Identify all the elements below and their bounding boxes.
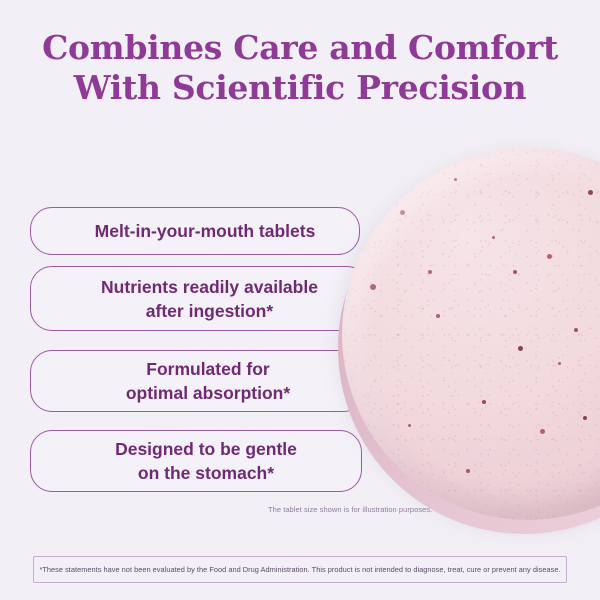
tablet-speck bbox=[454, 178, 457, 181]
tablet-speck bbox=[518, 346, 523, 351]
tablet-speck bbox=[370, 284, 376, 290]
tablet-speck bbox=[428, 270, 432, 274]
feature-line-2: optimal absorption* bbox=[126, 381, 290, 405]
tablet-speck bbox=[466, 469, 470, 473]
feature-text: Melt-in-your-mouth tablets bbox=[95, 219, 316, 243]
page-title-line-1: Combines Care and Comfort bbox=[0, 28, 600, 68]
footer-disclaimer-text: *These statements have not been evaluate… bbox=[33, 565, 566, 575]
tablet-speck bbox=[400, 210, 405, 215]
product-feature-graphic: Melt-in-your-mouth tablets Nutrients rea… bbox=[0, 0, 600, 600]
page-title: Combines Care and Comfort With Scientifi… bbox=[0, 28, 600, 108]
tablet-face bbox=[342, 148, 600, 520]
tablet-speck bbox=[436, 314, 440, 318]
feature-line-1: Formulated for bbox=[126, 357, 290, 381]
tablet-speck bbox=[482, 400, 486, 404]
tablet-speck bbox=[547, 254, 552, 259]
tablet-speck bbox=[513, 270, 517, 274]
feature-line-1: Designed to be gentle bbox=[115, 437, 297, 461]
tablet-drop-shadow bbox=[340, 154, 600, 530]
feature-line-2: on the stomach* bbox=[115, 461, 297, 485]
feature-text: Formulated for optimal absorption* bbox=[126, 357, 290, 405]
feature-text: Nutrients readily available after ingest… bbox=[101, 275, 318, 323]
footer-disclaimer-box: *These statements have not been evaluate… bbox=[33, 556, 567, 583]
feature-line-1: Melt-in-your-mouth tablets bbox=[95, 219, 316, 243]
tablet-speck bbox=[540, 429, 545, 434]
tablet-speck bbox=[583, 416, 587, 420]
feature-box-optimal-absorption: Formulated for optimal absorption* bbox=[30, 350, 366, 412]
tablet-speck bbox=[558, 362, 561, 365]
tablet-side-edge bbox=[338, 162, 600, 534]
feature-box-nutrients-available: Nutrients readily available after ingest… bbox=[30, 266, 369, 331]
feature-line-1: Nutrients readily available bbox=[101, 275, 318, 299]
tablet-speck bbox=[588, 190, 593, 195]
illustration-note: The tablet size shown is for illustratio… bbox=[268, 505, 432, 515]
tablet-image bbox=[338, 148, 600, 528]
page-title-line-2: With Scientific Precision bbox=[0, 68, 600, 108]
feature-text: Designed to be gentle on the stomach* bbox=[115, 437, 297, 485]
tablet-speck bbox=[408, 424, 411, 427]
feature-box-melt-in-your-mouth: Melt-in-your-mouth tablets bbox=[30, 207, 360, 255]
feature-box-gentle-on-stomach: Designed to be gentle on the stomach* bbox=[30, 430, 362, 492]
tablet-speck bbox=[574, 328, 578, 332]
feature-line-2: after ingestion* bbox=[101, 299, 318, 323]
tablet-speck bbox=[492, 236, 495, 239]
